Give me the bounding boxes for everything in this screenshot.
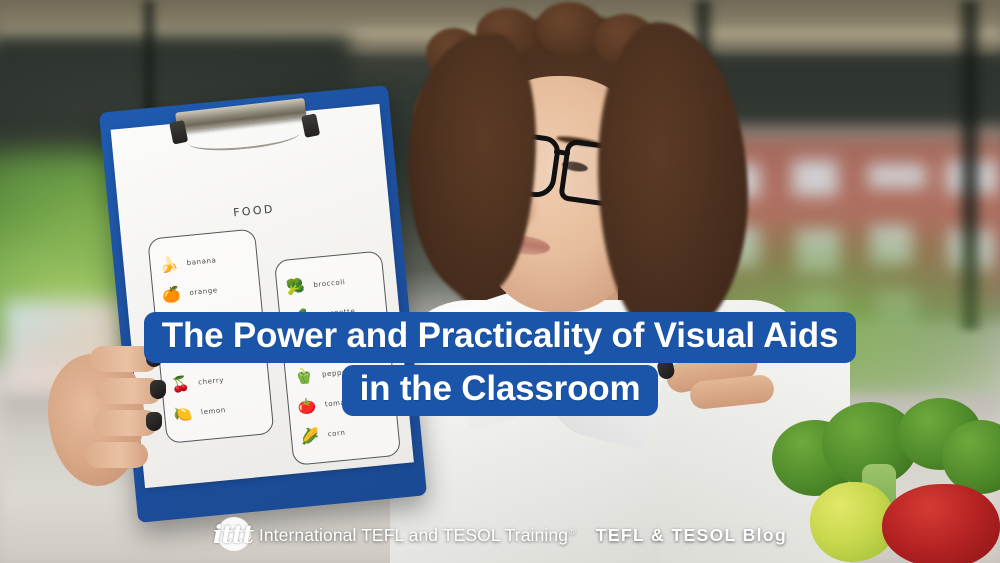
vegetable-label: broccoli bbox=[313, 278, 346, 289]
fruit-label: banana bbox=[186, 256, 216, 267]
ittt-logo-icon: ittt bbox=[213, 515, 253, 555]
logo-letters: ittt bbox=[213, 518, 255, 552]
screenshot-stage: FOOD 🍌 banana 🍊 orange 🍐 pear bbox=[0, 0, 1000, 563]
title-banner: The Power and Practicality of Visual Aid… bbox=[0, 312, 1000, 416]
page-title-line-2: in the Classroom bbox=[342, 365, 659, 416]
trademark-symbol: ® bbox=[569, 526, 576, 536]
banana-icon: 🍌 bbox=[158, 256, 179, 273]
brand-name-text: International TEFL and TESOL Training bbox=[259, 525, 568, 545]
broccoli-icon: 🥦 bbox=[285, 278, 306, 295]
fruit-label: orange bbox=[189, 286, 218, 297]
finger bbox=[86, 442, 148, 468]
orange-icon: 🍊 bbox=[161, 286, 182, 303]
footer-branding: ittt International TEFL and TESOL Traini… bbox=[0, 515, 1000, 555]
corn-icon: 🌽 bbox=[299, 428, 320, 445]
hair-front-left bbox=[408, 34, 536, 294]
blog-label: TEFL & TESOL Blog bbox=[596, 525, 787, 546]
hair-front-right bbox=[598, 22, 748, 342]
window-mullion bbox=[140, 0, 158, 120]
page-title-line-1: The Power and Practicality of Visual Aid… bbox=[144, 312, 856, 363]
vegetable-label: corn bbox=[327, 429, 345, 439]
brand-name: International TEFL and TESOL Training® bbox=[259, 525, 576, 546]
